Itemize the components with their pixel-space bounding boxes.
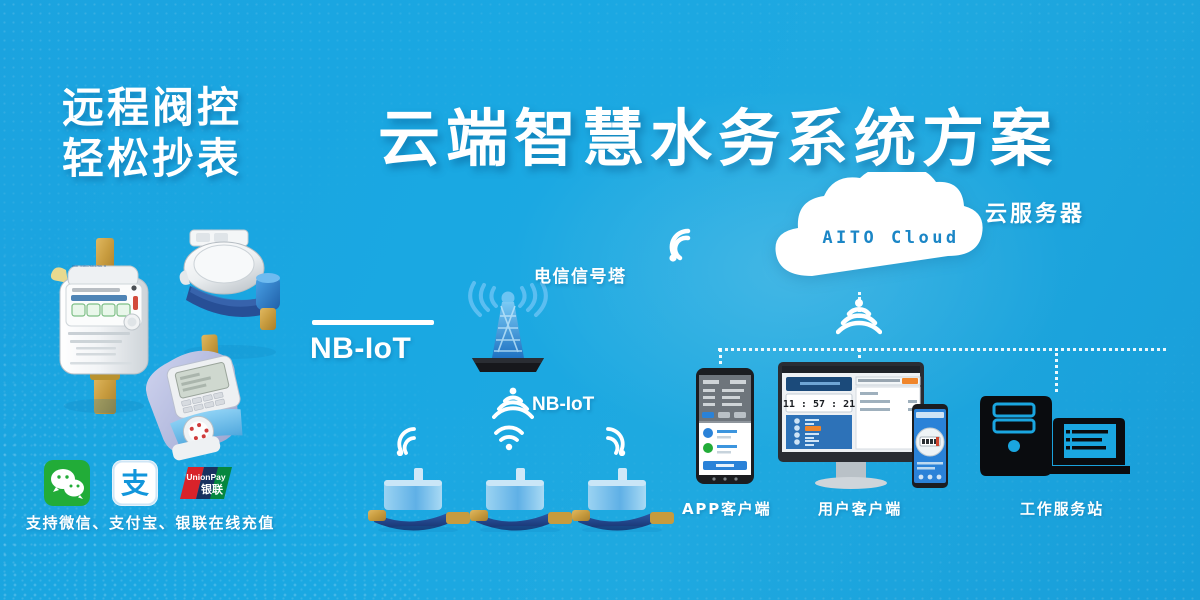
page-title: 云端智慧水务系统方案 <box>378 88 1058 178</box>
subtitle-line-1: 远程阀控 <box>62 82 242 133</box>
unionpay-brand-en: UnionPay <box>186 472 225 482</box>
alipay-icon[interactable]: 支 <box>112 460 158 506</box>
wifi-signal-meters-to-tower-icon <box>492 386 534 422</box>
wechat-pay-icon[interactable] <box>44 460 90 506</box>
nbiot-label-primary: NB-IoT <box>310 332 411 366</box>
work-station-devices <box>980 388 1130 492</box>
cloud-label: AITO Cloud <box>816 228 966 248</box>
poster-canvas: 远程阀控 轻松抄表 云端智慧水务系统方案 <box>0 0 1200 600</box>
user-client-monitor: 11 : 57 : 21 <box>778 362 924 490</box>
connector-stub-workstation <box>1055 348 1058 392</box>
wifi-meter-3-icon <box>594 424 630 456</box>
unionpay-icon[interactable]: UnionPay 银联 <box>180 463 232 503</box>
wifi-meter-2-icon <box>490 420 528 452</box>
nb-water-meter-2 <box>470 462 572 532</box>
connector-stub-cloud <box>858 292 861 318</box>
meter-device-code: 090 34017604766 8 <box>72 264 134 268</box>
app-client-label: APP客户端 <box>682 498 771 519</box>
cloud-server-graphic: AITO Cloud <box>760 172 990 292</box>
subtitle-block: 远程阀控 轻松抄表 <box>62 82 242 184</box>
wifi-meter-1-icon <box>392 424 428 456</box>
unionpay-brand-cn: 银联 <box>201 482 223 496</box>
user-client-phone <box>912 404 948 488</box>
alipay-glyph: 支 <box>121 467 149 500</box>
tower-label: 电信信号塔 <box>534 262 627 287</box>
product-smart-water-meter-white: 090 34017604766 8 <box>48 236 160 416</box>
cloud-server-caption: 云服务器 <box>985 196 1085 228</box>
user-client-label: 用户客户端 <box>818 498 902 519</box>
telecom-tower-icon <box>462 272 554 382</box>
app-client-phone <box>696 368 754 484</box>
nbiot-label-secondary: NB-IoT <box>532 394 594 416</box>
payment-caption: 支持微信、支付宝、银联在线充值 <box>26 512 275 533</box>
monitor-clock: 11 : 57 : 21 <box>783 399 855 410</box>
subtitle-line-2: 轻松抄表 <box>62 133 242 184</box>
connector-bus-line <box>718 348 1166 351</box>
work-station-label: 工作服务站 <box>1020 498 1104 519</box>
payment-methods: 支 UnionPay 银联 <box>44 460 232 506</box>
nb-water-meter-3 <box>572 462 674 532</box>
wifi-signal-tower-to-cloud-icon <box>666 222 710 262</box>
nb-water-meter-1 <box>368 462 470 532</box>
